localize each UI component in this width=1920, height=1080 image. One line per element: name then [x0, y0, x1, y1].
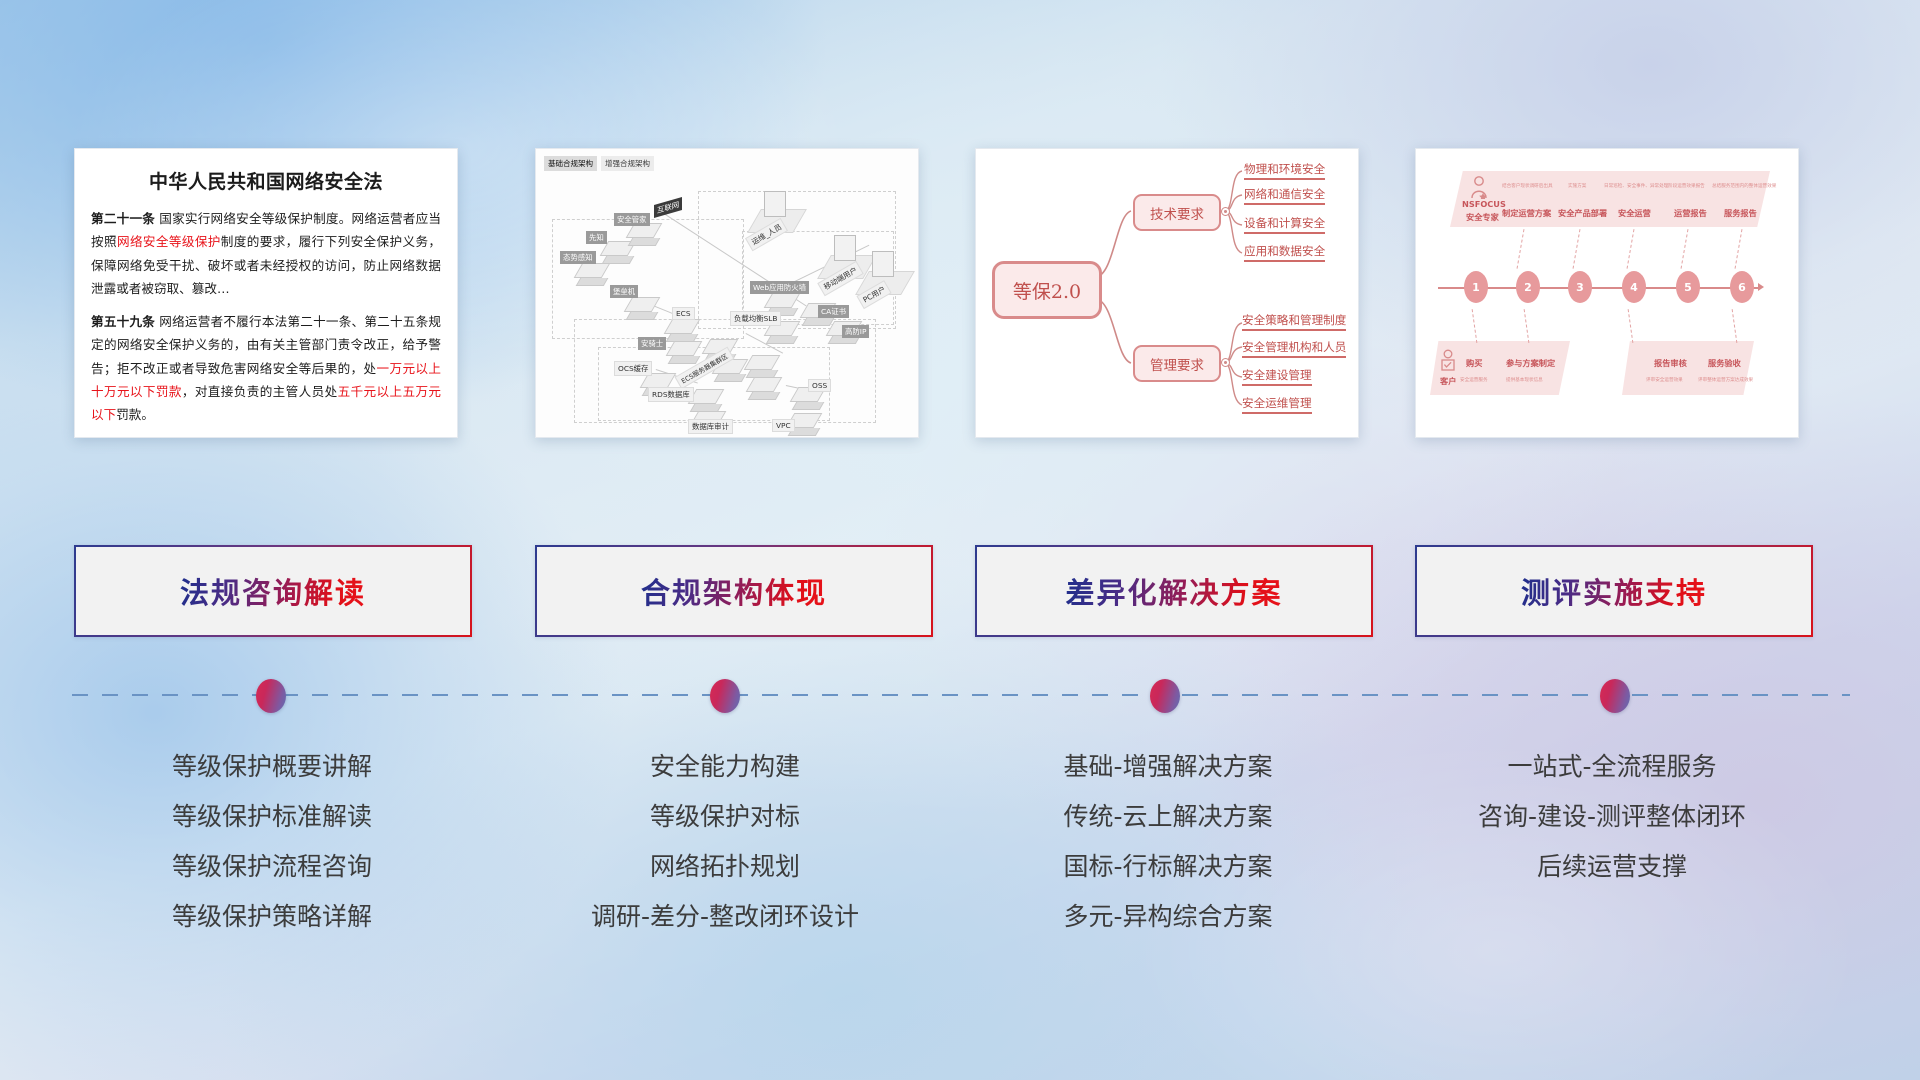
icon-security-steward — [630, 223, 658, 246]
headline-row: 法规咨询解读 合规架构体现 差异化解决方案 测评实施支持 — [0, 545, 1920, 645]
architecture-tabs[interactable]: 基础合规架构 增强合规架构 — [544, 156, 654, 171]
headline-label-3: 差异化解决方案 — [1065, 570, 1282, 612]
mindmap-leaf-mgmt-2[interactable]: 安全管理机构和人员 — [1242, 339, 1346, 358]
timeline-marker-3[interactable]: 3 — [1568, 271, 1592, 303]
icon-pc-user — [872, 251, 894, 277]
connector-bottom-5 — [1628, 309, 1635, 343]
mindmap-leaf-mgmt-3[interactable]: 安全建设管理 — [1242, 367, 1312, 386]
bottom-step-2-title: 参与方案制定 — [1506, 357, 1555, 369]
card-cybersecurity-law[interactable]: 中华人民共和国网络安全法 第二十一条 国家实行网络安全等级保护制度。网络运营者应… — [74, 148, 458, 438]
timeline-node-2[interactable] — [710, 679, 740, 713]
card-service-timeline[interactable]: NSFOCUS 安全专家 结合客户现状调研后出具 制定运营方案 实施方案 安全产… — [1415, 148, 1799, 438]
icon-ecs-node-5 — [750, 377, 778, 400]
mindmap-leaf-tech-3[interactable]: 设备和计算安全 — [1244, 215, 1325, 234]
list-item: 传统-云上解决方案 — [948, 792, 1388, 842]
architecture-canvas: 互联网 态势感知 先知 安全管家 堡垒机 运维_人员 — [546, 173, 908, 429]
slide-stage: 中华人民共和国网络安全法 第二十一条 国家实行网络安全等级保护制度。网络运营者应… — [0, 0, 1920, 1080]
law-article-59: 第五十九条 网络运营者不履行本法第二十一条、第二十五条规定的网络安全保护义务的，… — [91, 310, 441, 427]
expert-brand: NSFOCUS — [1462, 199, 1506, 209]
mindmap-branch-technical[interactable]: 技术要求 — [1133, 194, 1221, 231]
mindmap-leaf-tech-1[interactable]: 物理和环境安全 — [1244, 161, 1325, 180]
tab-basic-architecture[interactable]: 基础合规架构 — [544, 156, 597, 171]
law-article-59-text-c: 罚款。 — [116, 407, 154, 422]
bottom-step-3-note: 评审安全运营效果 — [1646, 377, 1683, 383]
top-step-1-title: 制定运营方案 — [1502, 207, 1551, 219]
mindmap-leaf-tech-2[interactable]: 网络和通信安全 — [1244, 186, 1325, 205]
connector-top-5 — [1681, 229, 1690, 269]
icon-guard-agent — [670, 341, 698, 364]
detail-list-differentiated-solution: 基础-增强解决方案 传统-云上解决方案 国标-行标解决方案 多元-异构综合方案 — [948, 742, 1388, 942]
customer-role-label: 客户 — [1440, 375, 1456, 387]
thumbnail-card-row: 中华人民共和国网络安全法 第二十一条 国家实行网络安全等级保护制度。网络运营者应… — [0, 148, 1920, 438]
icon-ecs-node-4 — [748, 355, 776, 378]
mindmap-leaf-mgmt-4[interactable]: 安全运维管理 — [1242, 395, 1312, 414]
list-item: 咨询-建设-测评整体闭环 — [1392, 792, 1832, 842]
timeline-marker-6[interactable]: 6 — [1730, 271, 1754, 303]
list-item: 等级保护流程咨询 — [52, 842, 492, 892]
top-step-3-note: 日常巡检、安全事件、异常处理 — [1604, 183, 1668, 189]
list-item: 一站式-全流程服务 — [1392, 742, 1832, 792]
icon-ecs — [668, 319, 696, 342]
process-timeline-dashed-line — [72, 694, 1850, 696]
icon-situation-awareness — [578, 263, 606, 286]
mindmap-branch-management[interactable]: 管理要求 — [1133, 345, 1221, 382]
detail-list-row: 等级保护概要讲解 等级保护标准解读 等级保护流程咨询 等级保护策略详解 安全能力… — [0, 742, 1920, 972]
bottom-step-4-note: 评审整体运营方案达成效果 — [1698, 377, 1753, 383]
law-article-21-label: 第二十一条 — [91, 211, 155, 226]
mindmap-diagram: 等保2.0 技术要求 管理要求 物理和环境安全 网络和通信安全 设备和计算安全 … — [976, 149, 1358, 437]
law-card-body: 中华人民共和国网络安全法 第二十一条 国家实行网络安全等级保护制度。网络运营者应… — [75, 149, 457, 437]
top-step-5-title: 服务报告 — [1724, 207, 1757, 219]
icon-console — [764, 191, 786, 217]
headline-box-differentiated-solution[interactable]: 差异化解决方案 — [975, 545, 1373, 637]
icon-mobile-user — [834, 235, 856, 261]
connector-top-3 — [1573, 229, 1582, 269]
label-situation-awareness: 态势感知 — [560, 251, 596, 264]
law-article-21-highlight: 网络安全等级保护 — [117, 234, 221, 249]
bottom-step-1-note: 安全运营服务 — [1460, 377, 1488, 383]
timeline-marker-5[interactable]: 5 — [1676, 271, 1700, 303]
list-item: 等级保护标准解读 — [52, 792, 492, 842]
timeline-node-4[interactable] — [1600, 679, 1630, 713]
list-item: 基础-增强解决方案 — [948, 742, 1388, 792]
service-timeline-diagram: NSFOCUS 安全专家 结合客户现状调研后出具 制定运营方案 实施方案 安全产… — [1416, 149, 1798, 437]
top-step-3-title: 安全运营 — [1618, 207, 1651, 219]
top-step-5-note: 总结服务范围内的整体运营效果 — [1712, 183, 1776, 189]
timeline-node-1[interactable] — [256, 679, 286, 713]
list-item: 国标-行标解决方案 — [948, 842, 1388, 892]
connector-bottom-1 — [1472, 309, 1479, 343]
bottom-step-1-title: 购买 — [1466, 357, 1482, 369]
icon-bastion-host — [628, 297, 656, 320]
top-step-2-note: 实施方案 — [1568, 183, 1586, 189]
label-rds-database: RDS数据库 — [648, 387, 694, 402]
label-ecs: ECS — [672, 307, 695, 320]
tab-enhanced-architecture[interactable]: 增强合规架构 — [601, 156, 654, 171]
list-item: 调研-差分-整改闭环设计 — [505, 892, 945, 942]
mindmap-collapse-icon-technical[interactable] — [1221, 207, 1230, 216]
headline-box-compliance-architecture[interactable]: 合规架构体现 — [535, 545, 933, 637]
list-item: 安全能力构建 — [505, 742, 945, 792]
headline-box-regulation-consulting[interactable]: 法规咨询解读 — [74, 545, 472, 637]
customer-person-icon — [1438, 349, 1458, 373]
label-anti-ddos: 高防IP — [842, 325, 869, 338]
timeline-marker-4[interactable]: 4 — [1622, 271, 1646, 303]
label-waf: Web应用防火墙 — [750, 281, 809, 294]
connector-bottom-6 — [1732, 309, 1739, 343]
top-step-4-title: 运营报告 — [1674, 207, 1707, 219]
timeline-marker-2[interactable]: 2 — [1516, 271, 1540, 303]
detail-list-compliance-architecture: 安全能力构建 等级保护对标 网络拓扑规划 调研-差分-整改闭环设计 — [505, 742, 945, 942]
headline-label-1: 法规咨询解读 — [180, 570, 366, 612]
list-item: 网络拓扑规划 — [505, 842, 945, 892]
list-item: 等级保护概要讲解 — [52, 742, 492, 792]
list-item: 多元-异构综合方案 — [948, 892, 1388, 942]
timeline-arrow-icon — [1758, 283, 1764, 291]
label-bastion-host: 堡垒机 — [610, 285, 638, 298]
bottom-step-3-title: 报告审核 — [1654, 357, 1687, 369]
label-threat-perception: 先知 — [586, 231, 607, 244]
connector-top-4 — [1627, 229, 1636, 269]
headline-label-4: 测评实施支持 — [1521, 570, 1707, 612]
mindmap-leaf-tech-4[interactable]: 应用和数据安全 — [1244, 243, 1325, 262]
list-item: 等级保护策略详解 — [52, 892, 492, 942]
card-dengbao-mindmap[interactable]: 等保2.0 技术要求 管理要求 物理和环境安全 网络和通信安全 设备和计算安全 … — [975, 148, 1359, 438]
label-oss: OSS — [808, 379, 831, 392]
law-title: 中华人民共和国网络安全法 — [91, 167, 441, 194]
headline-box-assessment-support[interactable]: 测评实施支持 — [1415, 545, 1813, 637]
timeline-marker-1[interactable]: 1 — [1464, 271, 1488, 303]
mindmap-collapse-icon-management[interactable] — [1221, 358, 1230, 367]
connector-top-2 — [1517, 229, 1526, 269]
expert-subtitle: 安全专家 — [1466, 211, 1499, 223]
bottom-step-2-note: 提供基本现状信息 — [1506, 377, 1543, 383]
connector-top-6 — [1735, 229, 1744, 269]
label-vpc: VPC — [772, 419, 795, 432]
icon-rds-database — [692, 389, 720, 412]
detail-list-regulation-consulting: 等级保护概要讲解 等级保护标准解读 等级保护流程咨询 等级保护策略详解 — [52, 742, 492, 942]
card-cloud-architecture[interactable]: 基础合规架构 增强合规架构 — [535, 148, 919, 438]
label-db-audit: 数据库审计 — [688, 419, 733, 434]
label-slb: 负载均衡SLB — [730, 311, 781, 326]
expert-person-icon — [1468, 175, 1490, 199]
label-ocs-cache: OCS缓存 — [614, 361, 652, 376]
label-ca-certificate: CA证书 — [818, 305, 849, 318]
law-article-59-text-b: ，对直接负责的主管人员处 — [182, 384, 338, 399]
list-item: 等级保护对标 — [505, 792, 945, 842]
detail-list-assessment-support: 一站式-全流程服务 咨询-建设-测评整体闭环 后续运营支撑 — [1392, 742, 1832, 892]
list-item: 后续运营支撑 — [1392, 842, 1832, 892]
connector-bottom-2 — [1524, 309, 1531, 343]
bottom-step-4-title: 服务验收 — [1708, 357, 1741, 369]
mindmap-root-node[interactable]: 等保2.0 — [992, 261, 1102, 319]
law-article-59-label: 第五十九条 — [91, 314, 155, 329]
mindmap-leaf-mgmt-1[interactable]: 安全策略和管理制度 — [1242, 312, 1346, 331]
top-step-2-title: 安全产品部署 — [1558, 207, 1607, 219]
timeline-node-3[interactable] — [1150, 679, 1180, 713]
top-step-1-note: 结合客户现状调研后出具 — [1502, 183, 1553, 189]
law-article-21: 第二十一条 国家实行网络安全等级保护制度。网络运营者应当按照网络安全等级保护制度… — [91, 207, 441, 301]
architecture-diagram: 基础合规架构 增强合规架构 — [536, 149, 918, 437]
label-guard-agent: 安骑士 — [638, 337, 666, 350]
top-step-4-note: 阶段运营效果报告 — [1668, 183, 1705, 189]
headline-label-2: 合规架构体现 — [641, 570, 827, 612]
label-security-steward: 安全管家 — [614, 213, 650, 226]
